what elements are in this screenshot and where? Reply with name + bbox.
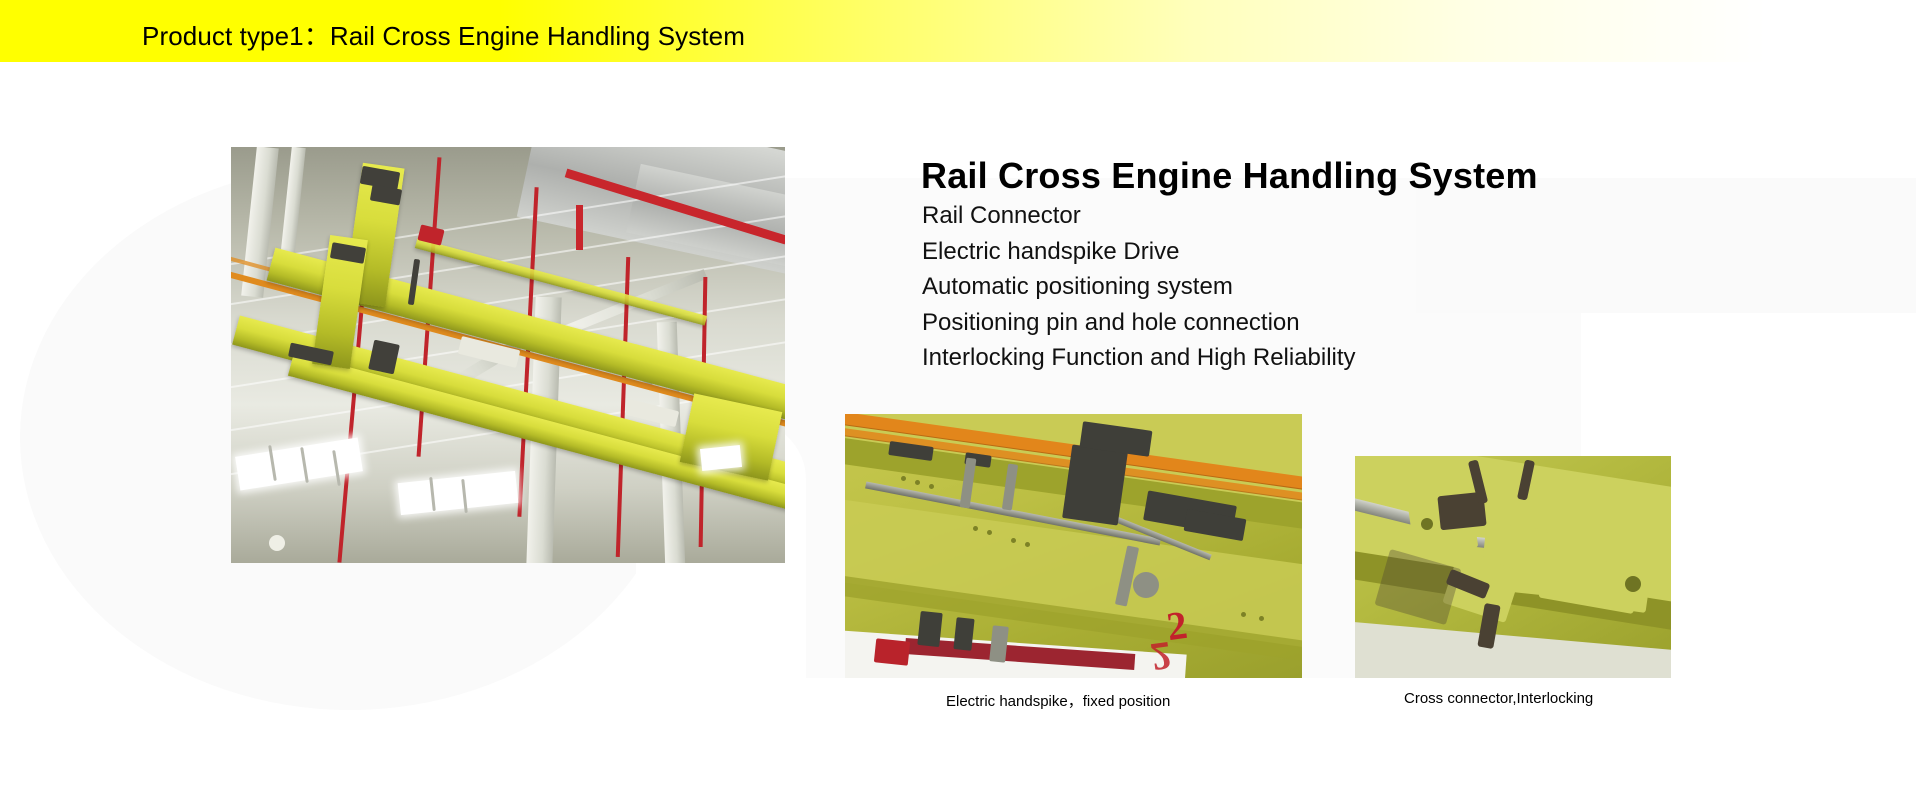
locating-hole-2 (1421, 518, 1433, 530)
red-beam-vertical (576, 205, 583, 250)
bolt-hole (929, 484, 934, 489)
handspike-scene: 2 2 (845, 414, 1302, 678)
bolt-hole (1025, 542, 1030, 547)
bolt-hole (973, 526, 978, 531)
red-limit-switch-box (874, 638, 910, 665)
photo-cross-connector (1355, 456, 1671, 678)
feature-item: Rail Connector (922, 198, 1356, 234)
locating-hole (1625, 576, 1641, 592)
bolt-hole (1241, 612, 1246, 617)
background-panel-top-right (1416, 178, 1916, 313)
header-banner: Product type1：Rail Cross Engine Handling… (0, 0, 1920, 62)
linkage-joint (1133, 572, 1159, 598)
photo-electric-handspike: 2 2 (845, 414, 1302, 678)
header-title: Product type1：Rail Cross Engine Handling… (142, 16, 745, 53)
pendant-lamp (269, 535, 285, 551)
rail-clamp (917, 611, 942, 647)
connector-scene (1355, 456, 1671, 678)
bolt-hole (987, 530, 992, 535)
bolt-hole (901, 476, 906, 481)
factory-scene (231, 147, 785, 563)
page-title: Rail Cross Engine Handling System (921, 155, 1538, 197)
bolt-hole (1011, 538, 1016, 543)
photo-overhead-rail-crane (231, 147, 785, 563)
feature-item: Automatic positioning system (922, 269, 1356, 305)
caption-electric-handspike: Electric handspike，fixed position (946, 690, 1170, 711)
drive-unit (1062, 444, 1128, 525)
caption-cross-connector: Cross connector,Interlocking (1404, 690, 1593, 707)
factory-window (700, 445, 742, 471)
bolt-hole (1259, 616, 1264, 621)
bolt-hole (915, 480, 920, 485)
rail-clamp (953, 617, 974, 651)
feature-item: Electric handspike Drive (922, 234, 1356, 270)
feature-item: Interlocking Function and High Reliabili… (922, 340, 1356, 376)
feature-item: Positioning pin and hole connection (922, 305, 1356, 341)
feature-list: Rail Connector Electric handspike Drive … (922, 198, 1356, 376)
